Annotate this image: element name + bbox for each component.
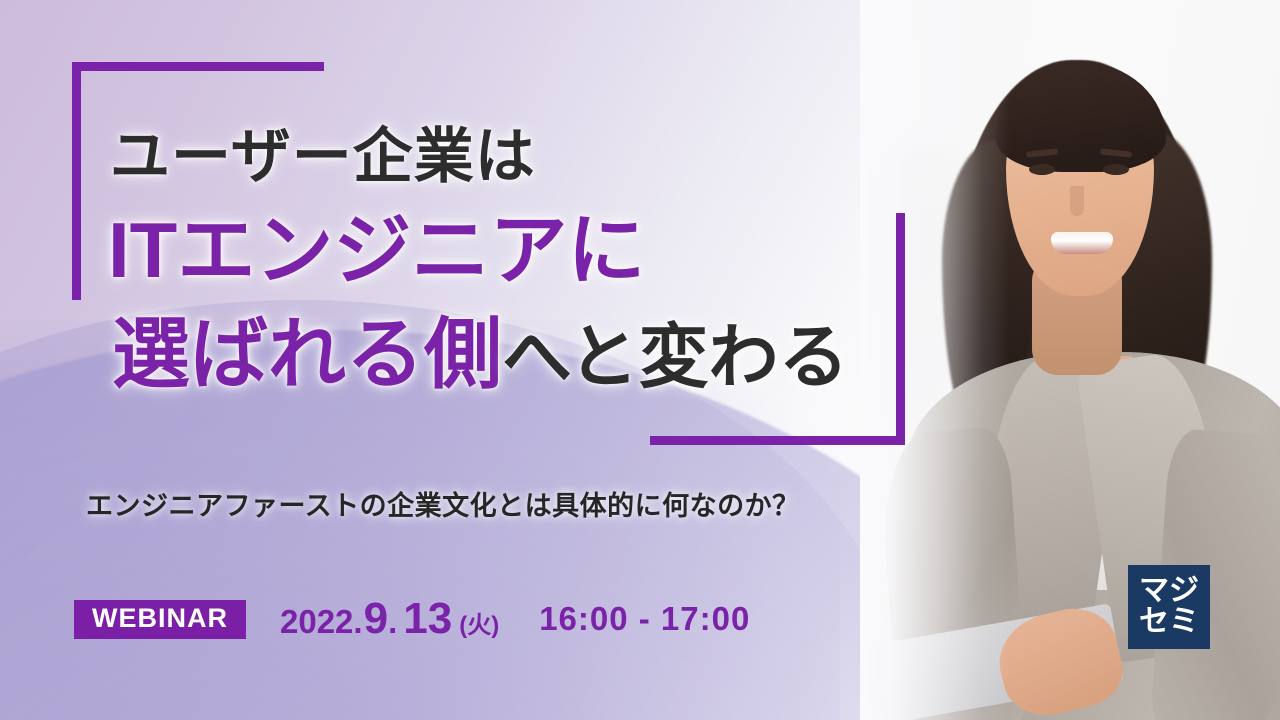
jacket-lapel-left [968,349,1129,663]
blurred-background-figure [860,150,960,670]
event-info-row: WEBINAR 2022.9.13(火) 16:00 - 17:00 [74,596,750,642]
eyebrow-right [1100,148,1132,157]
arm-left [878,426,1029,720]
headline-line-3-rest: へと変わる [502,318,849,396]
eyebrow-left [1026,148,1058,157]
nose [1070,186,1084,216]
blouse [1036,360,1140,590]
eye-left [1029,164,1055,175]
event-time: 16:00 - 17:00 [539,600,750,638]
eye-right [1103,164,1129,175]
photo-backdrop [860,0,1280,720]
event-date-separator: . [388,603,397,641]
bracket-top-left-vertical [72,62,81,300]
laptop-screen [860,459,1147,720]
event-date-year: 2022. [280,603,363,641]
hair-fringe [996,62,1166,172]
event-date: 2022.9.13(火) [280,594,499,644]
logo-line-1: マジ [1139,576,1199,607]
photo-left-fade [860,0,1010,720]
event-date-day: 13 [403,594,452,644]
webinar-badge: WEBINAR [74,600,246,639]
suit-jacket [906,352,1280,720]
face [1006,84,1154,296]
subtitle: エンジニアファーストの企業文化とは具体的に何なのか？ [86,484,800,523]
mouth-smile [1051,232,1113,254]
presenter-photo [860,0,1280,720]
webinar-banner: ユーザー企業は ITエンジニアに 選ばれる側へと変わる エンジニアファーストの企… [0,0,1280,720]
event-date-month: 9 [364,594,388,644]
hair-back [952,60,1202,480]
hair-left [942,140,1034,440]
neck [1032,255,1122,375]
headline-line-1: ユーザー企業は [110,108,536,195]
neckline-skin [1046,356,1132,436]
bracket-top-left-horizontal [72,62,324,71]
laptop-keyboard [860,603,1124,720]
majisemi-logo: マジ セミ [1128,565,1210,649]
headline-line-2: ITエンジニアに [108,188,645,300]
logo-line-2: セミ [1139,607,1199,638]
bracket-bottom-right-vertical [896,213,905,445]
bracket-bottom-right-horizontal [650,436,905,445]
event-date-dayofweek: (火) [459,605,499,640]
headline-line-3: 選ばれる側へと変わる [112,292,849,404]
headline-line-3-emphasis: 選ばれる側 [112,310,502,398]
hair-right [1112,130,1212,450]
hand [990,599,1131,720]
